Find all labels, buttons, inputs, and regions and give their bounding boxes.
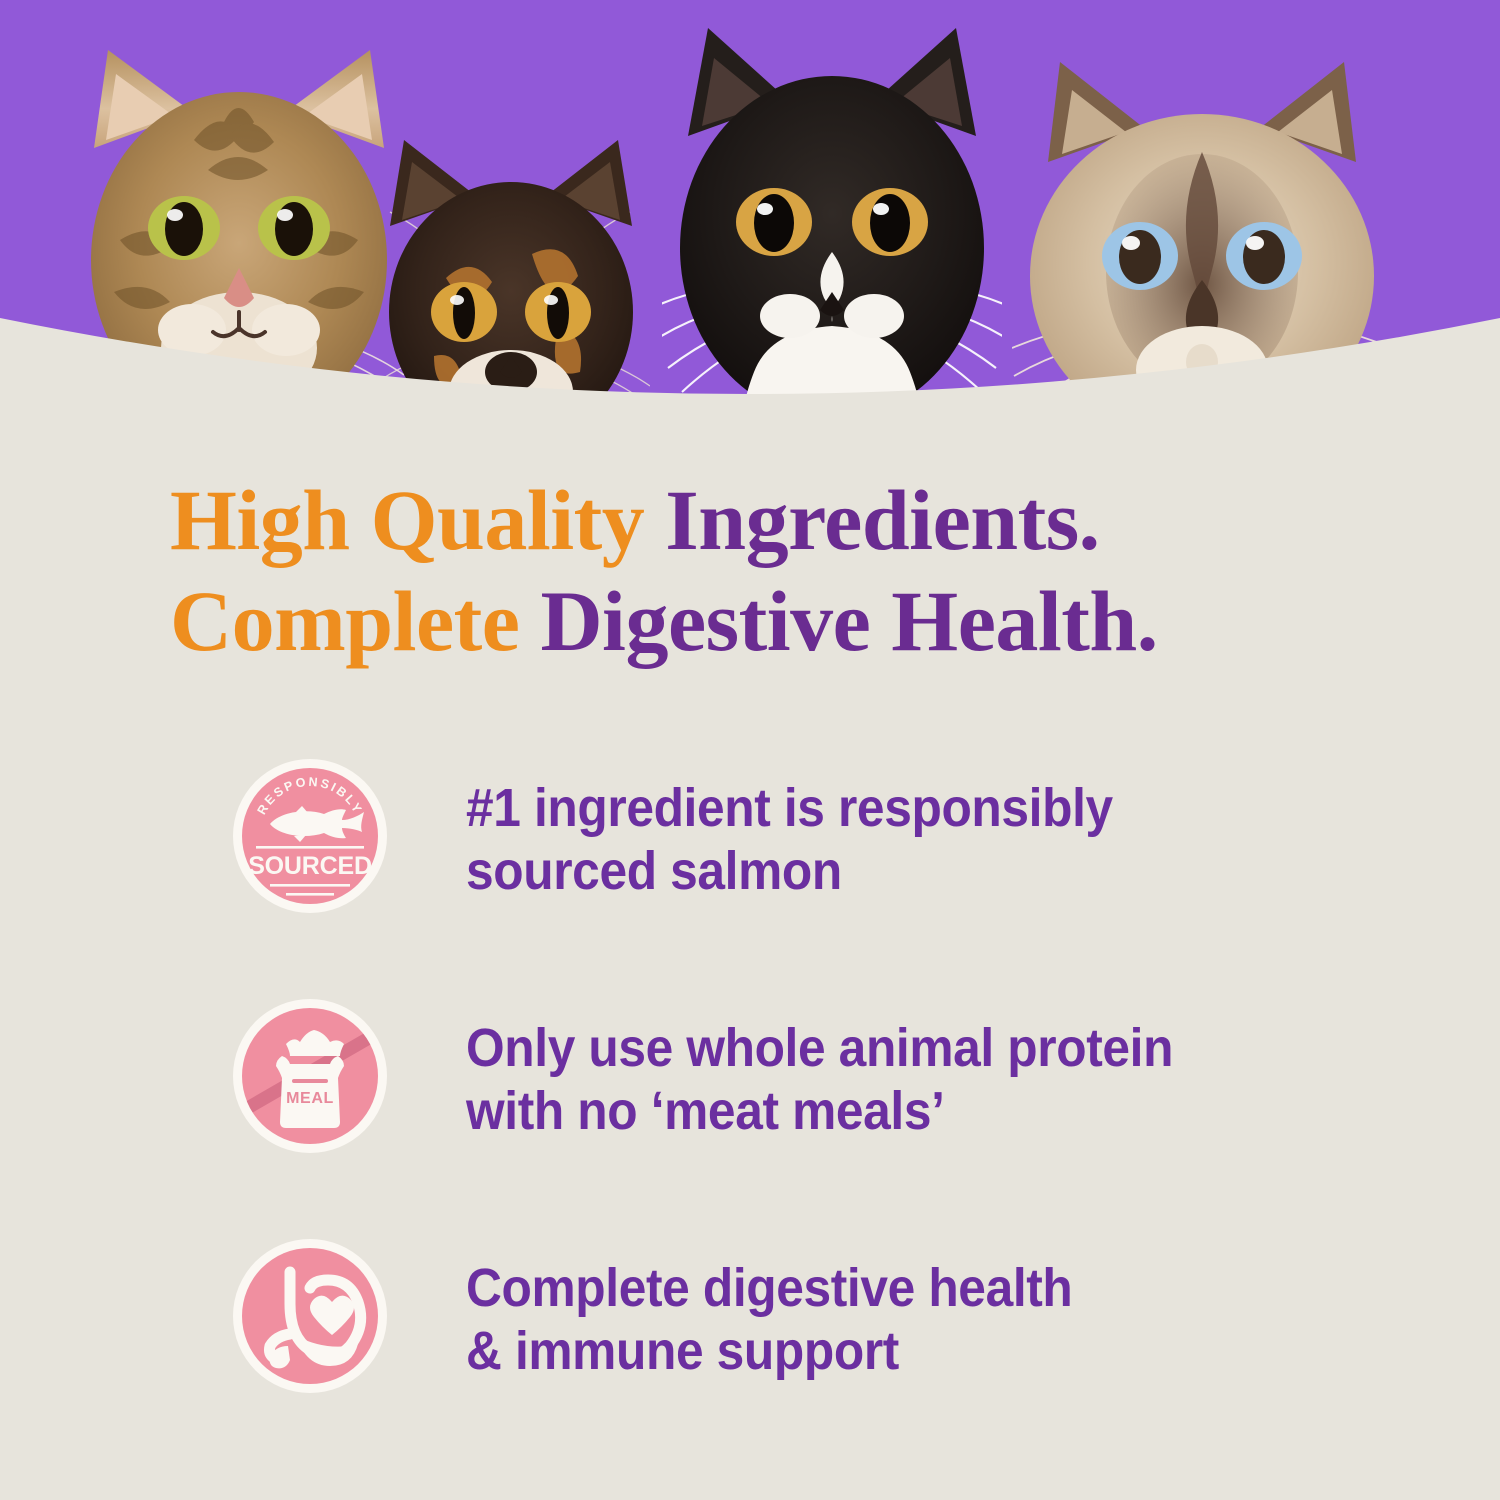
headline-line-1: High Quality Ingredients. bbox=[170, 470, 1400, 571]
feature-line-2: with no ‘meat meals’ bbox=[466, 1080, 1276, 1143]
feature-line-1: #1 ingredient is responsibly bbox=[466, 777, 1276, 840]
feature-row-responsibly-sourced: RESPONSIBLY SOURCED #1 ingredient is res… bbox=[0, 755, 1500, 995]
tortoiseshell-kitten bbox=[372, 120, 650, 430]
headline-line-1-purple: Ingredients. bbox=[665, 472, 1099, 568]
page-title: High Quality Ingredients. Complete Diges… bbox=[170, 470, 1400, 671]
headline-line-1-orange: High Quality bbox=[170, 472, 665, 568]
ragdoll-cat bbox=[1012, 40, 1392, 430]
feature-line-2: & immune support bbox=[466, 1320, 1276, 1383]
marketing-infographic: High Quality Ingredients. Complete Diges… bbox=[0, 0, 1500, 1500]
no-meat-meal-sack-badge-icon: MEAL bbox=[232, 998, 388, 1154]
hero-banner bbox=[0, 0, 1500, 430]
feature-line-1: Only use whole animal protein bbox=[466, 1017, 1276, 1080]
feature-text-responsibly-sourced: #1 ingredient is responsibly sourced sal… bbox=[466, 777, 1276, 902]
headline-line-2: Complete Digestive Health. bbox=[170, 571, 1400, 672]
feature-line-2: sourced salmon bbox=[466, 840, 1276, 903]
feature-row-digestive-health: Complete digestive health & immune suppo… bbox=[0, 1235, 1500, 1475]
responsibly-sourced-fish-badge-icon: RESPONSIBLY SOURCED bbox=[232, 758, 388, 914]
badge-main-text: SOURCED bbox=[248, 852, 372, 880]
headline-line-2-purple: Digestive Health. bbox=[540, 573, 1157, 669]
tuxedo-cat bbox=[662, 10, 1002, 430]
headline-line-2-orange: Complete bbox=[170, 573, 540, 669]
digestive-health-stomach-heart-badge-icon bbox=[232, 1238, 388, 1394]
badge-main-text: MEAL bbox=[286, 1090, 334, 1107]
feature-row-no-meat-meals: MEAL Only use whole animal protein with … bbox=[0, 995, 1500, 1235]
feature-text-digestive-health: Complete digestive health & immune suppo… bbox=[466, 1257, 1276, 1382]
brown-tabby-cat bbox=[74, 30, 404, 430]
feature-text-no-meat-meals: Only use whole animal protein with no ‘m… bbox=[466, 1017, 1276, 1142]
feature-line-1: Complete digestive health bbox=[466, 1257, 1276, 1320]
feature-list: RESPONSIBLY SOURCED #1 ingredient is res… bbox=[0, 755, 1500, 1475]
